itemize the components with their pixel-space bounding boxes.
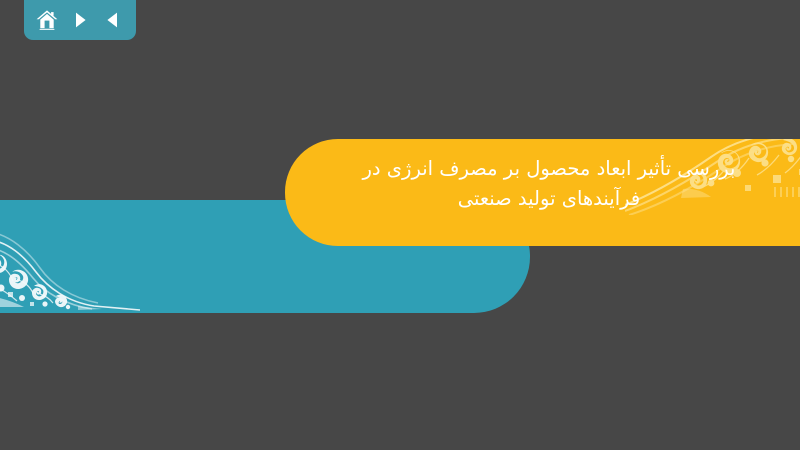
- triangle-left-icon: [103, 10, 123, 30]
- next-button[interactable]: [66, 6, 94, 34]
- title-line-1: بررسی تأثیر ابعاد محصول بر مصرف انرژی در: [325, 154, 773, 184]
- title-line-2: فرآیندهای تولید صنعتی: [325, 184, 773, 214]
- triangle-right-icon: [70, 10, 90, 30]
- slide-title: بررسی تأثیر ابعاد محصول بر مصرف انرژی در…: [325, 154, 773, 214]
- orange-title-banner: بررسی تأثیر ابعاد محصول بر مصرف انرژی در…: [285, 139, 800, 246]
- navigation-bar: [24, 0, 136, 40]
- previous-button[interactable]: [99, 6, 127, 34]
- arabesque-corner-ornament: [0, 218, 140, 313]
- presentation-slide: بررسی تأثیر ابعاد محصول بر مصرف انرژی در…: [0, 0, 800, 450]
- home-button[interactable]: [33, 6, 61, 34]
- home-icon: [35, 8, 59, 32]
